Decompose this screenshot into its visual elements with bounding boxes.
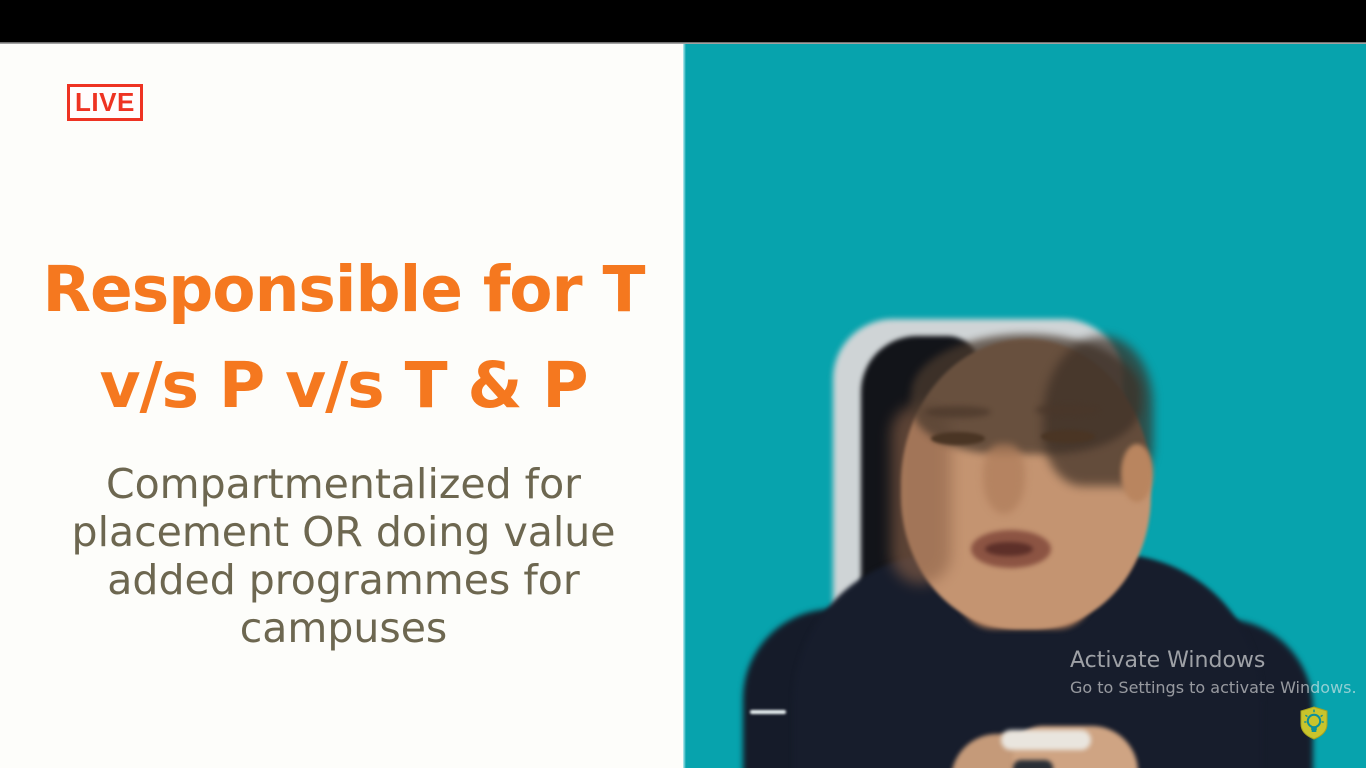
speaker-ear-right [1121, 444, 1153, 502]
presentation-stage: LIVE Responsible for T v/s P v/s T & P C… [0, 44, 1366, 768]
speaker-video-panel: Activate Windows Go to Settings to activ… [683, 44, 1366, 768]
speaker-eyebrow-left [925, 406, 991, 418]
slide-title: Responsible for T v/s P v/s T & P [0, 242, 683, 434]
slide-body-text: Compartmentalized for placement OR doing… [0, 460, 683, 652]
speaker-eyebrow-right [1035, 404, 1101, 416]
live-badge-label: LIVE [75, 89, 135, 115]
slide-title-line-1: Responsible for T [4, 242, 683, 338]
live-badge: LIVE [67, 84, 143, 121]
slide-body-line-4: campuses [4, 604, 683, 652]
held-object [1001, 730, 1091, 750]
slide-body-line-3: added programmes for [4, 556, 683, 604]
slide-body-line-2: placement OR doing value [4, 508, 683, 556]
slide-panel: LIVE Responsible for T v/s P v/s T & P C… [0, 44, 683, 768]
earphone-wire [750, 710, 786, 714]
video-left-edge [683, 44, 686, 768]
speaker-eye-left [931, 432, 985, 445]
video-player-screen: LIVE Responsible for T v/s P v/s T & P C… [0, 0, 1366, 768]
speaker-nose [983, 444, 1025, 514]
speaker-eye-right [1041, 430, 1095, 443]
lightbulb-shield-icon[interactable] [1299, 706, 1329, 740]
top-letterbox-bar [0, 0, 1366, 42]
held-object-dark [1013, 760, 1053, 768]
slide-title-line-2: v/s P v/s T & P [4, 338, 683, 434]
speaker-mouth-opening [985, 542, 1033, 556]
slide-body-line-1: Compartmentalized for [4, 460, 683, 508]
